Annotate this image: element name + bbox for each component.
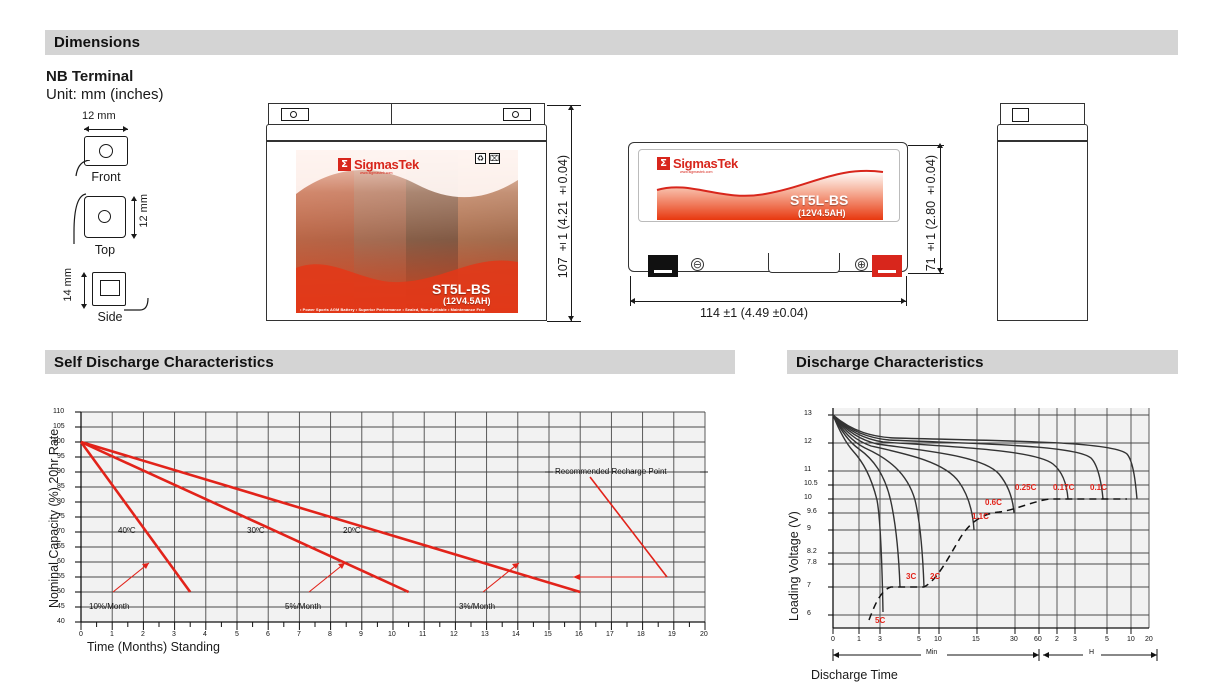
model-voltage-front: (12V4.5AH) [443, 296, 491, 306]
y-tick-40: 40 [57, 618, 65, 625]
section-header-discharge: Discharge Characteristics [787, 350, 1178, 374]
battery-side-terminal [1012, 108, 1029, 122]
dx-tick-min-60: 60 [1034, 636, 1042, 643]
dy-tick-10: 10 [804, 494, 812, 501]
dy-tick-9: 9 [807, 525, 811, 532]
x-tick-13: 13 [481, 631, 489, 638]
top-dim-arrow-up [131, 196, 137, 201]
section-header-self-discharge-label: Self Discharge Characteristics [54, 354, 274, 371]
x-tick-2: 2 [141, 631, 145, 638]
battery-front-lid [266, 124, 547, 141]
y-tick-110: 110 [53, 408, 64, 415]
dx-tick-h-2: 2 [1055, 636, 1059, 643]
dx-tick-min-10: 10 [934, 636, 942, 643]
y-tick-90: 90 [57, 468, 65, 475]
dx-tick-min-3: 3 [878, 636, 882, 643]
top-width-ext-right [906, 276, 907, 306]
positive-polarity-icon: ⊕ [855, 258, 868, 271]
y-tick-80: 80 [57, 498, 65, 505]
x-tick-7: 7 [297, 631, 301, 638]
battery-front-brandmark: Σ SigmasTek [338, 157, 419, 172]
battery-front-cover-divider [391, 103, 392, 125]
terminal-front-hole [99, 144, 113, 158]
y-tick-50: 50 [57, 588, 65, 595]
top-width-dim-line [630, 301, 906, 302]
self-discharge-plot [45, 390, 745, 640]
dy-tick-13: 13 [804, 410, 812, 417]
dx-tick-h-10: 10 [1127, 636, 1135, 643]
x-tick-10: 10 [388, 631, 396, 638]
battery-front-terminal-left-hole [290, 111, 297, 118]
depth-ext-bottom [908, 273, 944, 274]
span-label-hour: H [1089, 649, 1094, 656]
negative-terminal-mark [654, 270, 672, 273]
front-height-ext-top [547, 105, 581, 106]
annotation-10-percent-month: 10%/Month [89, 602, 129, 611]
annotation-0.1c: 0.1C [1090, 483, 1107, 492]
terminal-top-hole [98, 210, 111, 223]
x-tick-8: 8 [328, 631, 332, 638]
brand-url-top: www.sigmastek.com [680, 170, 713, 174]
top-leader-line [68, 192, 88, 248]
front-dim-line [84, 129, 128, 130]
battery-side-case [997, 141, 1088, 321]
annotation-5c: 5C [875, 616, 885, 625]
y-tick-100: 100 [53, 438, 65, 445]
top-dim-arrow-down [131, 234, 137, 239]
brand-name-front: SigmasTek [354, 157, 419, 172]
x-tick-11: 11 [419, 631, 426, 638]
dx-tick-min-5: 5 [917, 636, 921, 643]
nb-terminal-title: NB Terminal [46, 68, 133, 85]
x-tick-19: 19 [668, 631, 676, 638]
x-tick-12: 12 [450, 631, 458, 638]
dy-tick-10.5: 10.5 [804, 480, 818, 487]
terminal-side-inner [100, 280, 120, 296]
y-tick-95: 95 [57, 453, 65, 460]
annotation-0.6c: 0.6C [985, 498, 1002, 507]
x-tick-9: 9 [359, 631, 363, 638]
x-tick-4: 4 [203, 631, 207, 638]
section-header-self-discharge: Self Discharge Characteristics [45, 350, 735, 374]
dx-tick-min-30: 30 [1010, 636, 1018, 643]
front-height-arrow-down [568, 316, 574, 321]
battery-width-dimension: 114 ±1 (4.49 ±0.04) [700, 306, 808, 320]
dy-tick-6: 6 [807, 610, 811, 617]
negative-polarity-icon: ⊖ [691, 258, 704, 271]
front-width-dimension: 12 mm [82, 110, 116, 122]
x-tick-6: 6 [266, 631, 270, 638]
top-dim-line [134, 200, 135, 236]
dy-tick-7: 7 [807, 582, 811, 589]
self-discharge-x-axis-title: Time (Months) Standing [87, 640, 220, 654]
y-tick-70: 70 [57, 528, 65, 535]
depth-dim-line [940, 145, 941, 273]
side-dim-arrow-down [81, 304, 87, 309]
dx-tick-h-3: 3 [1073, 636, 1077, 643]
x-tick-14: 14 [512, 631, 520, 638]
side-height-dimension: 14 mm [62, 268, 74, 302]
side-dim-arrow-up [81, 272, 87, 277]
x-tick-16: 16 [575, 631, 583, 638]
model-name-top: ST5L-BS [790, 192, 848, 208]
annotation-2c: 2C [930, 572, 940, 581]
front-height-dim-line [571, 105, 572, 321]
unit-note: Unit: mm (inches) [46, 86, 164, 103]
wheelie-bin-icon: ⌧ [489, 153, 500, 164]
battery-side-lid [997, 124, 1088, 141]
dx-tick-min-1: 1 [857, 636, 861, 643]
label-tagline: • Power Sports AGM Battery • Superior Pe… [300, 307, 485, 312]
x-tick-15: 15 [544, 631, 552, 638]
battery-front-terminal-right-hole [512, 111, 519, 118]
annotation-30c: 30ºC [247, 526, 265, 535]
y-tick-60: 60 [57, 558, 65, 565]
dx-tick-h-20: 20 [1145, 636, 1153, 643]
y-tick-105: 105 [53, 423, 65, 430]
positive-terminal-mark [878, 270, 896, 273]
annotation-3c: 3C [906, 572, 916, 581]
time-unit-spans [787, 646, 1187, 672]
annotation-40c: 40ºC [118, 526, 136, 535]
positive-terminal-block [872, 255, 902, 277]
x-tick-20: 20 [700, 631, 708, 638]
y-tick-85: 85 [57, 483, 65, 490]
dy-tick-12: 12 [804, 438, 812, 445]
battery-depth-dimension: 71 ±1 (2.80 ±0.04) [924, 155, 938, 271]
negative-terminal-block [648, 255, 678, 277]
section-header-discharge-label: Discharge Characteristics [796, 354, 984, 371]
annotation-5-percent-month: 5%/Month [285, 602, 321, 611]
x-tick-18: 18 [637, 631, 645, 638]
battery-height-dimension: 107 ±1 (4.21 ±0.04) [556, 155, 570, 278]
model-voltage-top: (12V4.5AH) [798, 208, 846, 218]
brand-name-top: SigmasTek [673, 156, 738, 171]
battery-top-center-slot [768, 253, 840, 273]
dy-tick-7.8: 7.8 [807, 559, 817, 566]
sigma-icon: Σ [338, 158, 351, 171]
annotation-1.1c: 1.1C [972, 512, 989, 521]
x-tick-1: 1 [110, 631, 114, 638]
y-tick-45: 45 [57, 603, 65, 610]
top-width-ext-left [630, 276, 631, 306]
top-height-dimension: 12 mm [138, 194, 150, 228]
x-tick-3: 3 [172, 631, 176, 638]
depth-ext-top [908, 145, 944, 146]
y-tick-75: 75 [57, 513, 65, 520]
section-header-dimensions: Dimensions [45, 30, 1178, 55]
x-tick-17: 17 [606, 631, 614, 638]
dy-tick-9.6: 9.6 [807, 508, 817, 515]
y-tick-55: 55 [57, 573, 65, 580]
terminal-front-caption: Front [84, 170, 128, 184]
front-dim-arrow-right [123, 126, 128, 132]
y-tick-65: 65 [57, 543, 65, 550]
dy-tick-8.2: 8.2 [807, 548, 817, 555]
front-height-ext-bottom [547, 321, 581, 322]
self-discharge-chart: Nominal Capacity (%) 20hr Rate Time (Mon… [45, 390, 745, 680]
terminal-side-caption: Side [88, 310, 132, 324]
span-label-min: Min [926, 649, 937, 656]
front-dim-arrow-left [84, 126, 89, 132]
terminal-top-caption: Top [82, 243, 128, 257]
x-tick-5: 5 [235, 631, 239, 638]
dx-tick-min-15: 15 [972, 636, 980, 643]
recycle-icon: ♻ [475, 153, 486, 164]
discharge-chart: Loading Voltage (V) Discharge Time [787, 390, 1187, 690]
side-dim-line [84, 276, 85, 306]
dy-tick-11: 11 [804, 466, 811, 473]
annotation-20c: 20ºC [343, 526, 361, 535]
battery-top-brandmark: Σ SigmasTek [657, 156, 738, 171]
front-height-arrow-up [568, 105, 574, 110]
brand-url-front: www.sigmastek.com [360, 171, 393, 175]
section-header-dimensions-label: Dimensions [54, 34, 140, 51]
annotation-recommended-recharge-point: Recommended Recharge Point [555, 467, 667, 476]
dx-tick-h-5: 5 [1105, 636, 1109, 643]
model-name-front: ST5L-BS [432, 281, 490, 297]
annotation-0.25c: 0.25C [1015, 483, 1036, 492]
dx-tick-min-0: 0 [831, 636, 835, 643]
annotation-0.17c: 0.17C [1053, 483, 1074, 492]
discharge-plot [787, 390, 1187, 665]
sigma-icon-top: Σ [657, 157, 670, 170]
x-tick-0: 0 [79, 631, 83, 638]
annotation-3-percent-month: 3%/Month [459, 602, 495, 611]
